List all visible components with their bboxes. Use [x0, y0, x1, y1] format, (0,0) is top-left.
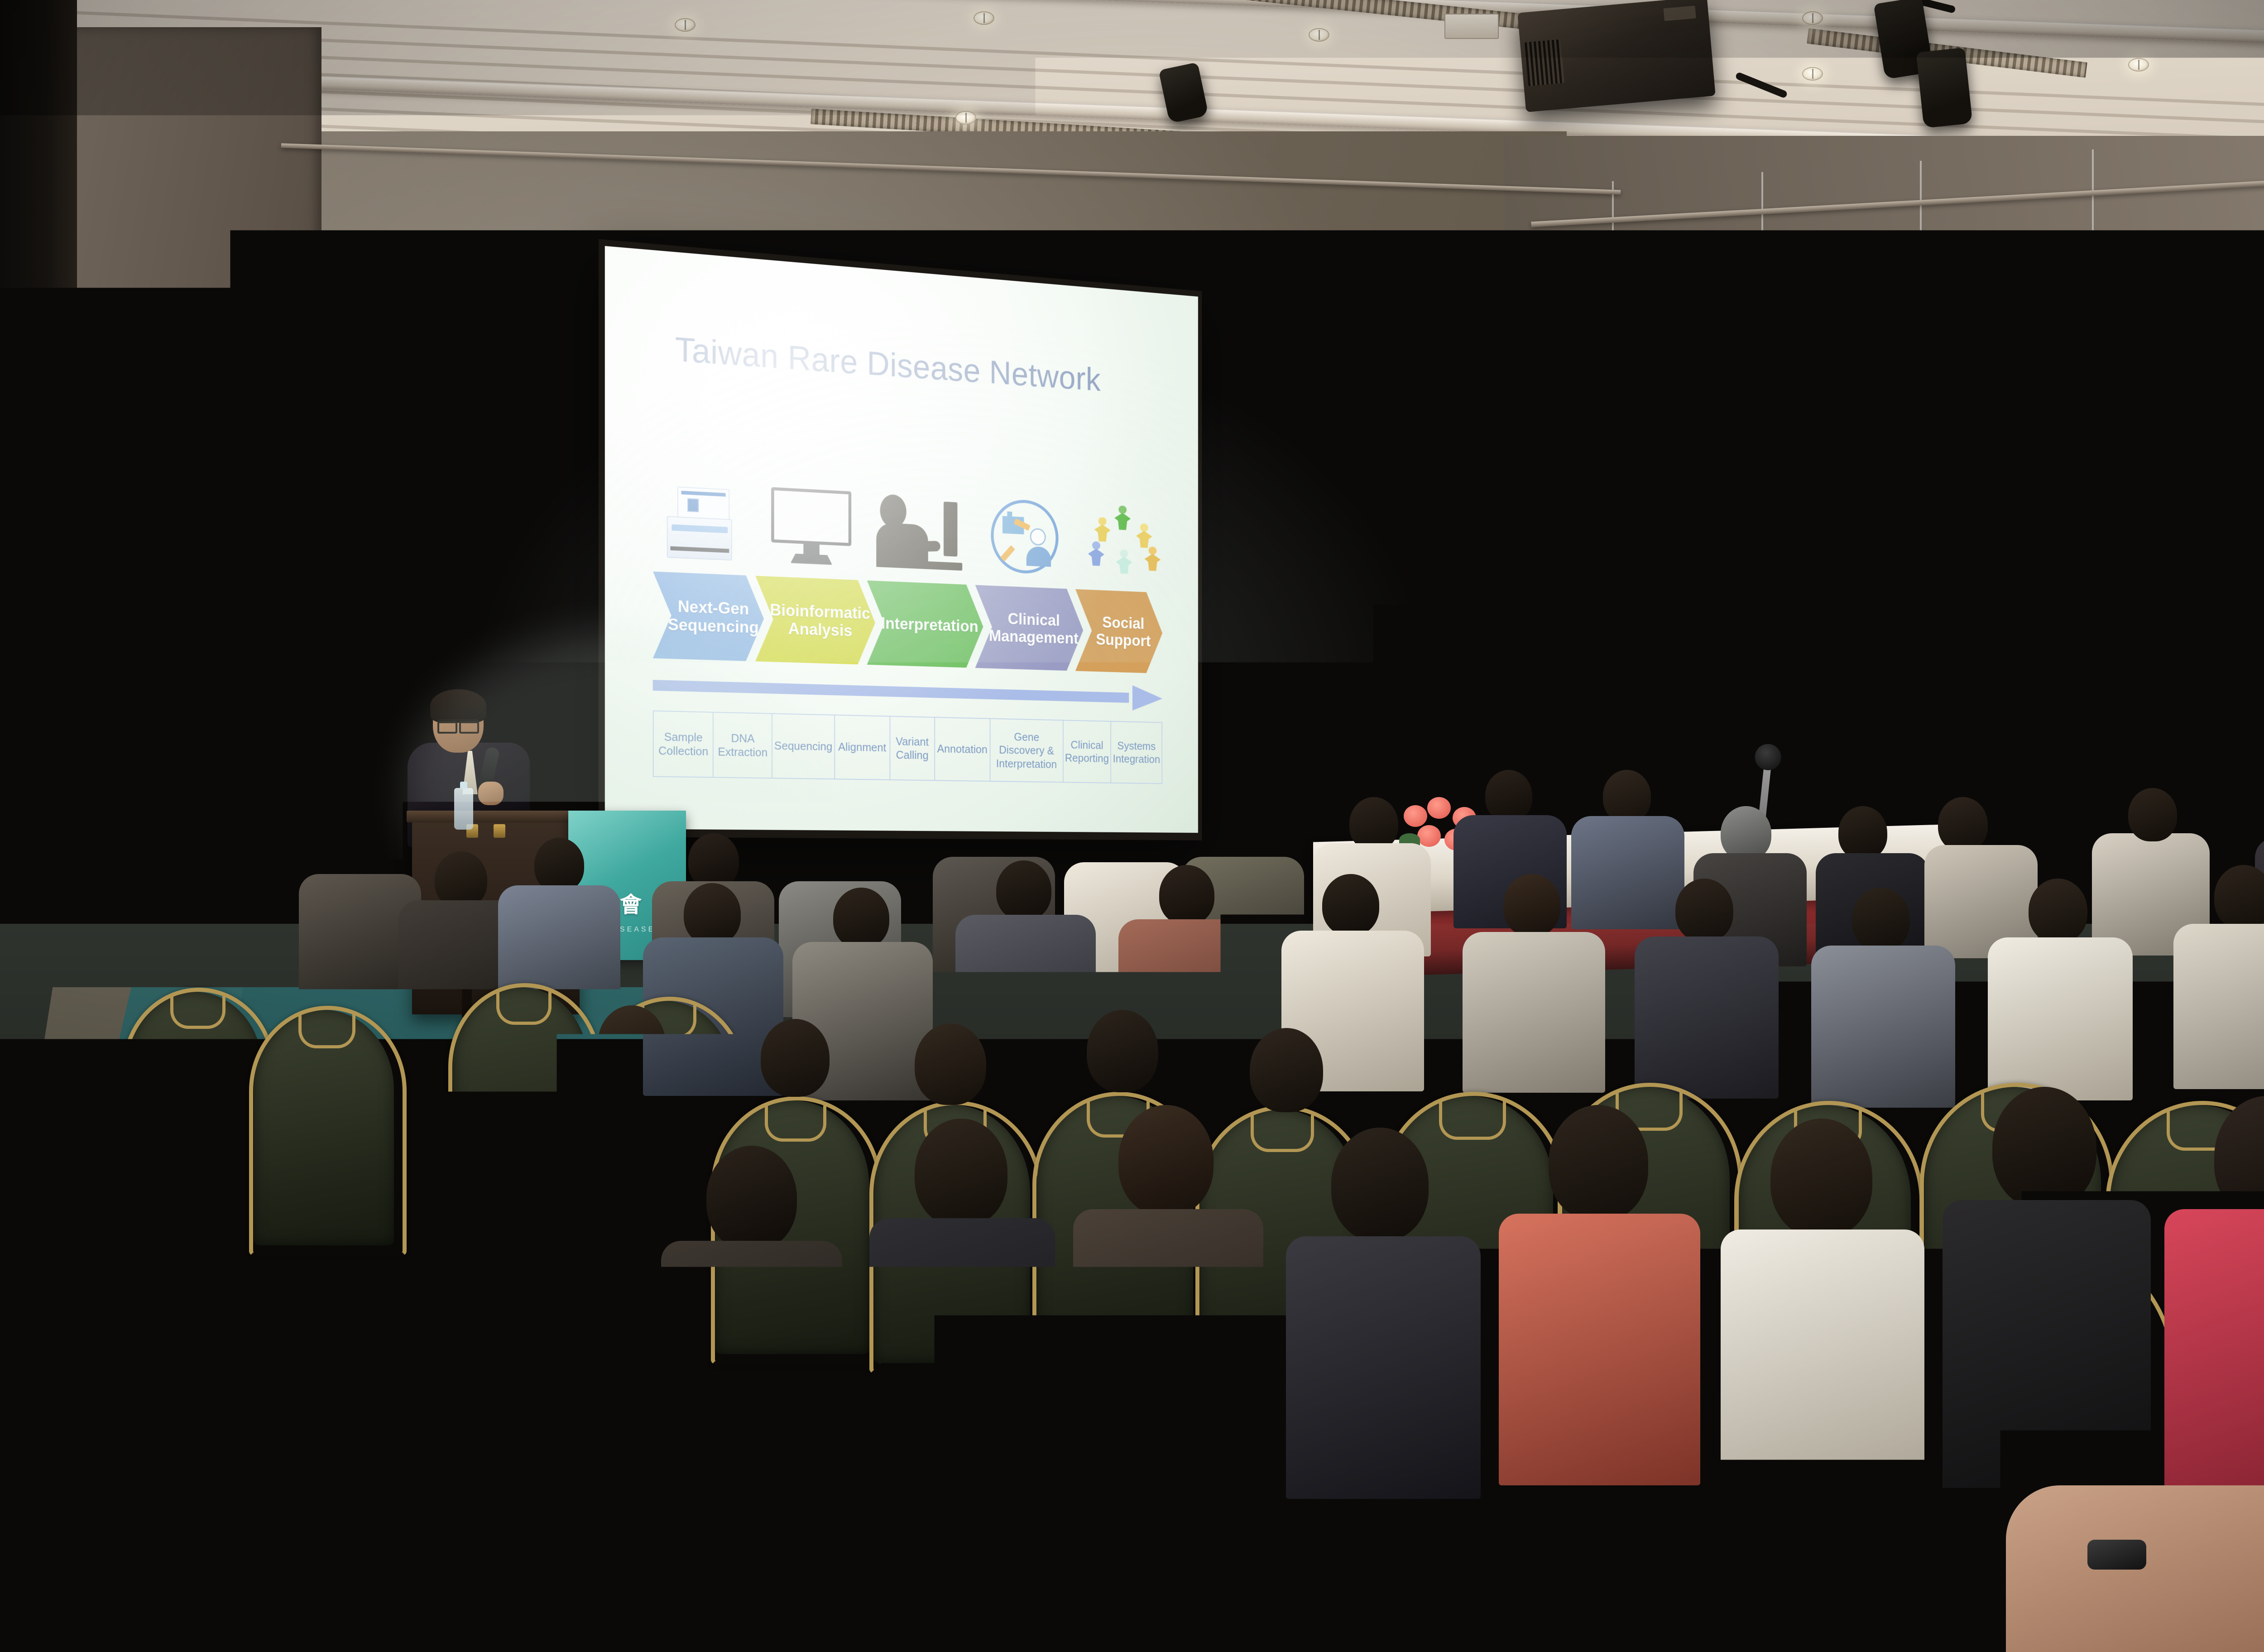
- attendee-head: [684, 883, 741, 945]
- attendee-head: [2128, 788, 2177, 841]
- downlight-icon: [1802, 11, 1823, 25]
- attendee-head: [2029, 879, 2087, 943]
- sequencer-icon: [667, 486, 732, 561]
- attendee-head: [1322, 874, 1379, 936]
- attendee-body: [1499, 1214, 1700, 1485]
- slide-icon-row: [650, 441, 1171, 580]
- attendee-body: [1635, 936, 1779, 1099]
- spotlight: [1916, 48, 1973, 128]
- attendee-head: [1250, 1028, 1323, 1112]
- attendee-head: [833, 888, 889, 948]
- attendee-head: [969, 811, 1018, 864]
- projector-vent: [1525, 39, 1564, 86]
- attendee-body: [869, 1218, 1055, 1463]
- attendee-head: [534, 838, 584, 892]
- left-wall-panel: [68, 27, 321, 1037]
- attendee-head: [1852, 888, 1910, 951]
- chevron-social-support[interactable]: Social Support: [1075, 589, 1162, 674]
- icon-cell: [873, 454, 966, 571]
- downlight-icon: [2128, 58, 2149, 72]
- presentation-slide: Taiwan Rare Disease Network: [605, 246, 1198, 833]
- attendee-head: [706, 1146, 797, 1250]
- attendee-body: [2173, 924, 2264, 1089]
- downlight-icon: [955, 111, 976, 125]
- attendee-head: [1503, 874, 1560, 936]
- chevron-next-gen-sequencing[interactable]: Next-Gen Sequencing: [653, 571, 764, 662]
- attendee-head: [761, 1019, 830, 1097]
- projector-label: [1664, 5, 1696, 21]
- monitor-icon: [771, 487, 851, 566]
- downlight-icon: [1309, 28, 1329, 42]
- attendee-head: [815, 833, 865, 888]
- attendee-head: [1349, 797, 1398, 850]
- attendee-head: [1770, 1119, 1872, 1237]
- attendee-head: [1159, 865, 1214, 925]
- glasses-icon: [437, 719, 479, 728]
- people-circle-icon: [1088, 502, 1165, 579]
- workflow-arrow: [653, 677, 1162, 706]
- attendee-body: [1073, 1209, 1263, 1463]
- attendee-head: [1100, 815, 1150, 869]
- downlight-icon: [974, 11, 994, 25]
- icon-cell: [650, 441, 749, 561]
- table-cell: Sequencing: [772, 714, 835, 779]
- attendee-body: [1463, 932, 1605, 1093]
- attendee-head: [1838, 806, 1887, 860]
- table-cell: Gene Discovery & Interpretation: [990, 719, 1063, 782]
- attendee-head: [688, 833, 739, 888]
- chevron-clinical-management[interactable]: Clinical Management: [975, 585, 1084, 672]
- projection-screen-frame: Taiwan Rare Disease Network: [599, 239, 1202, 840]
- chevron-interpretation[interactable]: Interpretation: [867, 581, 983, 668]
- workflow-chevron-row: Next-Gen Sequencing Bioinformatic Analys…: [653, 571, 1162, 674]
- attendee-head: [1992, 1087, 2096, 1208]
- chevron-bioinformatic-analysis[interactable]: Bioinformatic Analysis: [755, 576, 875, 665]
- attendee-body: [1571, 816, 1684, 929]
- attendee-body: [1988, 937, 2133, 1100]
- downlight-icon: [1802, 67, 1823, 81]
- attendee-body: [1286, 1236, 1481, 1499]
- icon-cell: [1082, 467, 1170, 580]
- workflow-steps-table: Sample Collection DNA Extraction Sequenc…: [653, 711, 1162, 784]
- hospital-patient-icon: [991, 498, 1058, 575]
- table-cell: DNA Extraction: [714, 713, 772, 778]
- attendee-body: [1811, 946, 1955, 1108]
- slide-title: Taiwan Rare Disease Network: [675, 330, 1149, 402]
- attendee-head: [1331, 1128, 1429, 1241]
- attendee-head: [915, 1119, 1007, 1226]
- attendee-head: [1675, 879, 1733, 942]
- attendee-head: [996, 860, 1051, 920]
- ceiling-panel-light: [1444, 14, 1499, 39]
- conference-room-scene: Taiwan Rare Disease Network: [0, 0, 2264, 1652]
- table-cell: Annotation: [935, 718, 990, 781]
- attendee-body: [1721, 1229, 1924, 1510]
- table-cell: Alignment: [835, 716, 890, 779]
- table-cell: Systems Integration: [1111, 722, 1161, 783]
- attendee-head: [915, 1023, 986, 1105]
- attendee-head: [1218, 811, 1267, 864]
- water-bottle: [454, 788, 473, 830]
- attendee-shoe: [5, 1476, 195, 1544]
- analyst-at-workstation-icon: [877, 490, 963, 571]
- attendee-head: [1938, 797, 1988, 851]
- attendee-head: [598, 1005, 666, 1082]
- wall-seam: [2092, 149, 2094, 946]
- chair[interactable]: [127, 992, 263, 1218]
- attendee-head: [1603, 770, 1651, 822]
- attendee-body: [2164, 1209, 2264, 1508]
- icon-cell: [763, 448, 859, 566]
- icon-cell: [979, 461, 1070, 575]
- attendee-head: [1721, 806, 1771, 860]
- attendee-head: [1087, 1010, 1158, 1092]
- downlight-icon: [675, 18, 696, 32]
- attendee-body: [661, 1241, 842, 1476]
- projector: [1517, 0, 1716, 112]
- table-cell: Clinical Reporting: [1063, 720, 1111, 783]
- chair[interactable]: [254, 1010, 394, 1245]
- projection-screen: Taiwan Rare Disease Network: [605, 246, 1198, 833]
- attendee-body: [1943, 1200, 2151, 1490]
- attendee-wristwatch: [2087, 1540, 2146, 1570]
- attendee-head: [1485, 770, 1532, 821]
- attendee-head: [1549, 1105, 1648, 1221]
- attendee-head: [1118, 1105, 1214, 1215]
- table-cell: Variant Calling: [890, 717, 935, 780]
